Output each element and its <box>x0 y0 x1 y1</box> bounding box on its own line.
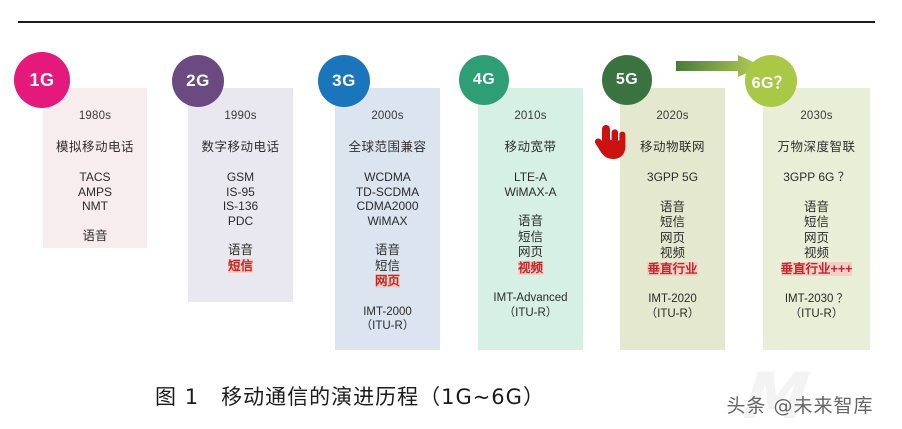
generation-bubble-5g[interactable]: 5G <box>602 55 652 105</box>
technology-item: TACS <box>78 170 112 185</box>
generation-tagline-6g: 万物深度智联 <box>777 136 855 155</box>
top-divider-rule <box>18 21 875 23</box>
generation-bubble-1g[interactable]: 1G <box>14 52 70 108</box>
service-highlight: 短信 <box>228 259 253 273</box>
service-item: 垂直行业 <box>647 262 697 278</box>
generation-services-5g: 语音短信网页视频垂直行业 <box>647 200 697 278</box>
standard-line: （ITU-R） <box>646 307 700 322</box>
generation-standard-6g: IMT-2030 ？（ITU-R） <box>785 292 848 321</box>
service-item: 短信 <box>781 215 853 231</box>
service-item: 网页 <box>647 231 697 247</box>
service-item: 短信 <box>228 259 253 275</box>
generation-tagline-2g: 数字移动电话 <box>201 136 279 155</box>
generation-technologies-3g: WCDMATD-SCDMACDMA2000WiMAX <box>356 170 419 228</box>
generation-bubble-label: 1G <box>29 70 54 91</box>
service-item: 语音 <box>82 229 107 245</box>
generation-bubble-label: 6G？ <box>752 69 791 93</box>
generation-panel-1g: 1980s模拟移动电话TACSAMPSNMT语音 <box>43 88 147 248</box>
generation-technologies-5g: 3GPP 5G <box>647 170 698 185</box>
red-hand-pointer-icon <box>594 121 628 161</box>
service-item: 网页 <box>781 231 853 247</box>
service-item: 语音 <box>781 200 853 216</box>
service-highlight: 垂直行业+++ <box>781 262 853 276</box>
generation-decade-5g: 2020s <box>656 110 688 122</box>
generation-technologies-2g: GSMIS-95IS-136PDC <box>223 170 258 228</box>
generation-tagline-5g: 移动物联网 <box>640 136 705 155</box>
service-highlight: 垂直行业 <box>647 262 697 276</box>
generation-standard-5g: IMT-2020（ITU-R） <box>646 292 700 321</box>
generation-tagline-4g: 移动宽带 <box>504 136 556 155</box>
technology-item: TD-SCDMA <box>356 185 419 200</box>
generation-tagline-1g: 模拟移动电话 <box>56 136 134 155</box>
service-item: 视频 <box>647 246 697 262</box>
standard-line: IMT-2000 <box>361 305 415 320</box>
technology-item: IS-95 <box>223 185 258 200</box>
service-item: 视频 <box>781 246 853 262</box>
technology-item: IS-136 <box>223 199 258 214</box>
generation-panel-6g: 2030s万物深度智联3GPP 6G ？语音短信网页视频垂直行业+++IMT-2… <box>763 88 870 350</box>
generation-decade-3g: 2000s <box>371 110 403 122</box>
generation-services-2g: 语音短信 <box>228 243 253 274</box>
generation-bubble-label: 4G <box>473 71 495 89</box>
generation-tagline-3g: 全球范围兼容 <box>348 136 426 155</box>
service-highlight: 网页 <box>375 274 400 288</box>
generation-bubble-label: 2G <box>186 71 210 91</box>
generation-panel-3g: 2000s全球范围兼容WCDMATD-SCDMACDMA2000WiMAX语音短… <box>335 88 440 350</box>
generation-services-4g: 语音短信网页视频 <box>518 214 543 276</box>
generation-technologies-1g: TACSAMPSNMT <box>78 170 112 214</box>
generation-bubble-6g[interactable]: 6G？ <box>745 55 797 107</box>
technology-item: LTE-A <box>505 170 557 185</box>
service-item: 网页 <box>518 245 543 261</box>
standard-line: IMT-Advanced <box>493 291 567 306</box>
service-item: 网页 <box>375 274 400 290</box>
standard-line: IMT-2020 <box>646 292 700 307</box>
standard-line: （ITU-R） <box>493 306 567 321</box>
technology-item: WiMAX <box>356 214 419 229</box>
technology-item: PDC <box>223 214 258 229</box>
standard-line: IMT-2030 ？ <box>785 292 848 307</box>
service-item: 视频 <box>518 261 543 277</box>
technology-item: CDMA2000 <box>356 199 419 214</box>
technology-item: WiMAX-A <box>505 185 557 200</box>
technology-item: NMT <box>78 199 112 214</box>
generation-bubble-2g[interactable]: 2G <box>172 55 224 107</box>
service-item: 语音 <box>518 214 543 230</box>
service-item: 短信 <box>518 230 543 246</box>
generation-bubble-label: 3G <box>332 71 356 91</box>
technology-item: GSM <box>223 170 258 185</box>
technology-item: 3GPP 5G <box>647 170 698 185</box>
generation-panel-2g: 1990s数字移动电话GSMIS-95IS-136PDC语音短信 <box>188 88 293 302</box>
service-item: 垂直行业+++ <box>781 262 853 278</box>
figure-caption: 图 1 移动通信的演进历程（1G~6G） <box>0 381 700 411</box>
generation-standard-3g: IMT-2000（ITU-R） <box>361 305 415 334</box>
generation-standard-4g: IMT-Advanced（ITU-R） <box>493 291 567 320</box>
generation-technologies-6g: 3GPP 6G ？ <box>783 170 849 185</box>
service-highlight: 视频 <box>518 261 543 275</box>
service-item: 语音 <box>375 243 400 259</box>
generation-services-3g: 语音短信网页 <box>375 243 400 290</box>
service-item: 语音 <box>228 243 253 259</box>
generation-bubble-4g[interactable]: 4G <box>459 55 509 105</box>
service-item: 语音 <box>647 200 697 216</box>
generation-decade-4g: 2010s <box>514 110 546 122</box>
generation-bubble-label: 5G <box>616 71 638 89</box>
figure-canvas: 1980s模拟移动电话TACSAMPSNMT语音1G1990s数字移动电话GSM… <box>0 0 902 429</box>
source-watermark: 头条 @未来智库 <box>700 391 900 418</box>
generation-panel-4g: 2010s移动宽带LTE-AWiMAX-A语音短信网页视频IMT-Advance… <box>478 88 583 350</box>
generation-technologies-4g: LTE-AWiMAX-A <box>505 170 557 199</box>
standard-line: （ITU-R） <box>785 307 848 322</box>
technology-item: 3GPP 6G ？ <box>783 170 849 185</box>
generation-services-1g: 语音 <box>82 229 107 245</box>
generation-decade-1g: 1980s <box>79 110 111 122</box>
generation-services-6g: 语音短信网页视频垂直行业+++ <box>781 200 853 278</box>
standard-line: （ITU-R） <box>361 319 415 334</box>
technology-item: AMPS <box>78 185 112 200</box>
generation-bubble-3g[interactable]: 3G <box>318 55 370 107</box>
service-item: 短信 <box>647 215 697 231</box>
generation-panel-5g: 2020s移动物联网3GPP 5G语音短信网页视频垂直行业IMT-2020（IT… <box>620 88 725 350</box>
generation-decade-2g: 1990s <box>224 110 256 122</box>
service-item: 短信 <box>375 259 400 275</box>
technology-item: WCDMA <box>356 170 419 185</box>
generation-decade-6g: 2030s <box>800 110 832 122</box>
